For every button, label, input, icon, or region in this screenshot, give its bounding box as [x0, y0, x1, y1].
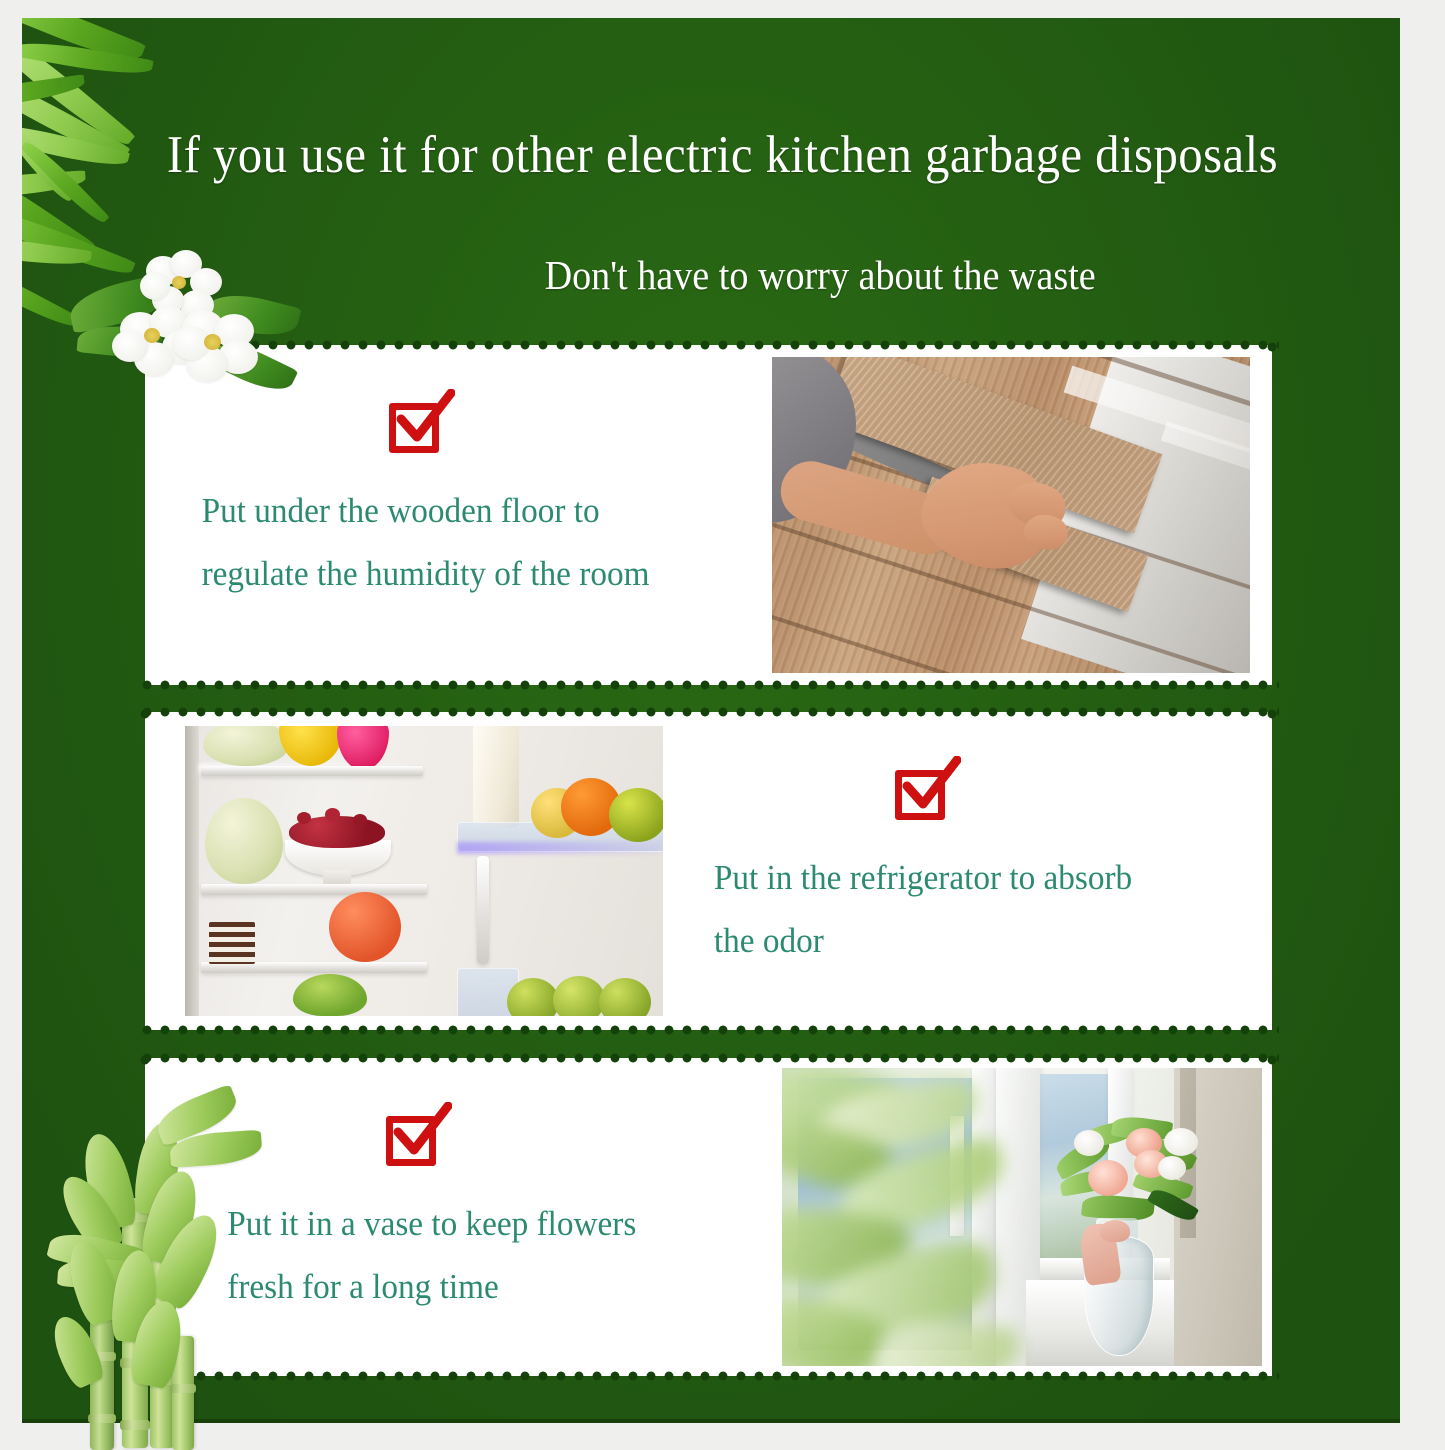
checkmark-icon [899, 756, 961, 818]
checkmark-icon [393, 389, 455, 451]
wood-floor-install-photo [772, 357, 1250, 673]
red-checkbox-icon [889, 758, 959, 828]
refrigerator-photo [185, 726, 663, 1016]
card-1-text-column: Put under the wooden floor to regulate t… [145, 345, 772, 685]
benefit-card-2[interactable]: Put in the refrigerator to absorb the od… [145, 712, 1272, 1030]
benefit-card-3[interactable]: Put it in a vase to keep flowers fresh f… [145, 1058, 1272, 1376]
card-1-label: Put under the wooden floor to regulate t… [175, 479, 714, 605]
red-checkbox-icon [383, 391, 453, 461]
card-2-photo [185, 726, 663, 1016]
benefit-card-1[interactable]: Put under the wooden floor to regulate t… [145, 345, 1272, 685]
checkmark-icon [390, 1102, 452, 1164]
poster-root: If you use it for other electric kitchen… [0, 0, 1445, 1445]
card-3-text-column: Put it in a vase to keep flowers fresh f… [145, 1058, 782, 1376]
poster-subtitle: Don't have to worry about the waste [51, 251, 1395, 299]
card-2-label: Put in the refrigerator to absorb the od… [693, 846, 1215, 972]
red-checkbox-icon [380, 1104, 450, 1174]
card-2-text-column: Put in the refrigerator to absorb the od… [663, 712, 1272, 1030]
card-3-photo [782, 1068, 1262, 1366]
vase-on-windowsill-photo [782, 1068, 1262, 1366]
card-1-photo [772, 357, 1250, 673]
poster-title: If you use it for other electric kitchen… [58, 126, 1387, 184]
card-3-label: Put it in a vase to keep flowers fresh f… [175, 1192, 723, 1318]
